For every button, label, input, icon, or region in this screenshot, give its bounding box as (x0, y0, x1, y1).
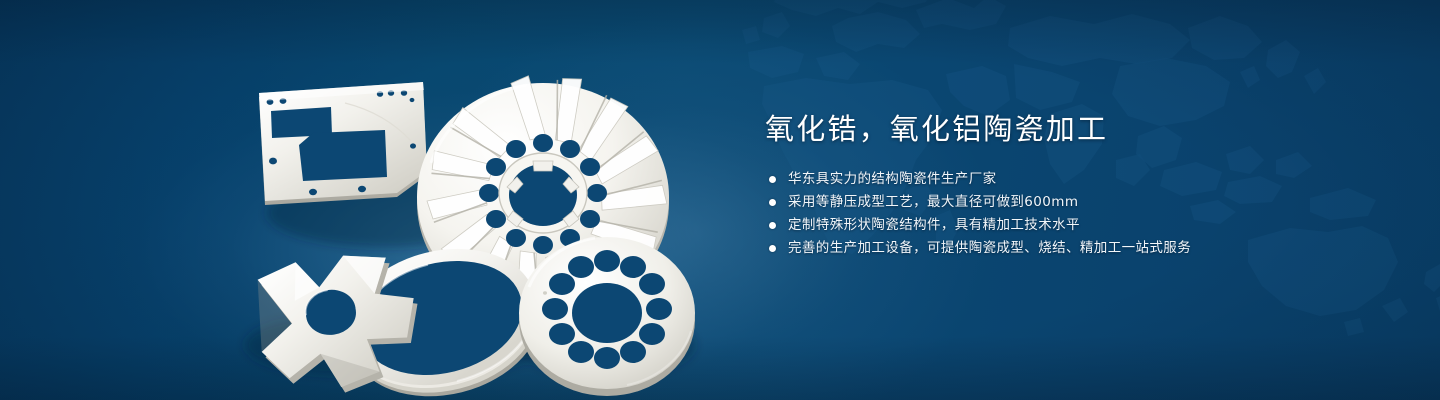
bullet-dot-icon (769, 245, 776, 252)
list-item: 定制特殊形状陶瓷结构件，具有精加工技术水平 (769, 214, 1385, 237)
list-item-label: 华东具实力的结构陶瓷件生产厂家 (788, 168, 997, 191)
banner-text-block: 氧化锆，氧化铝陶瓷加工 华东具实力的结构陶瓷件生产厂家 采用等静压成型工艺，最大… (765, 112, 1385, 260)
hero-banner: 氧化锆，氧化铝陶瓷加工 华东具实力的结构陶瓷件生产厂家 采用等静压成型工艺，最大… (0, 0, 1440, 400)
feature-list: 华东具实力的结构陶瓷件生产厂家 采用等静压成型工艺，最大直径可做到600mm 定… (769, 168, 1385, 260)
list-item: 采用等静压成型工艺，最大直径可做到600mm (769, 191, 1385, 214)
bullet-dot-icon (769, 222, 776, 229)
ceramic-parts-photo (225, 45, 705, 375)
list-item: 完善的生产加工设备，可提供陶瓷成型、烧结、精加工一站式服务 (769, 237, 1385, 260)
bullet-dot-icon (769, 176, 776, 183)
list-item-label: 采用等静压成型工艺，最大直径可做到600mm (788, 191, 1078, 214)
part-perforated-disc (519, 237, 695, 396)
list-item-label: 定制特殊形状陶瓷结构件，具有精加工技术水平 (788, 214, 1080, 237)
list-item: 华东具实力的结构陶瓷件生产厂家 (769, 168, 1385, 191)
bullet-dot-icon (769, 199, 776, 206)
part-flat-plate (259, 82, 427, 205)
page-title: 氧化锆，氧化铝陶瓷加工 (765, 112, 1385, 146)
list-item-label: 完善的生产加工设备，可提供陶瓷成型、烧结、精加工一站式服务 (788, 237, 1191, 260)
